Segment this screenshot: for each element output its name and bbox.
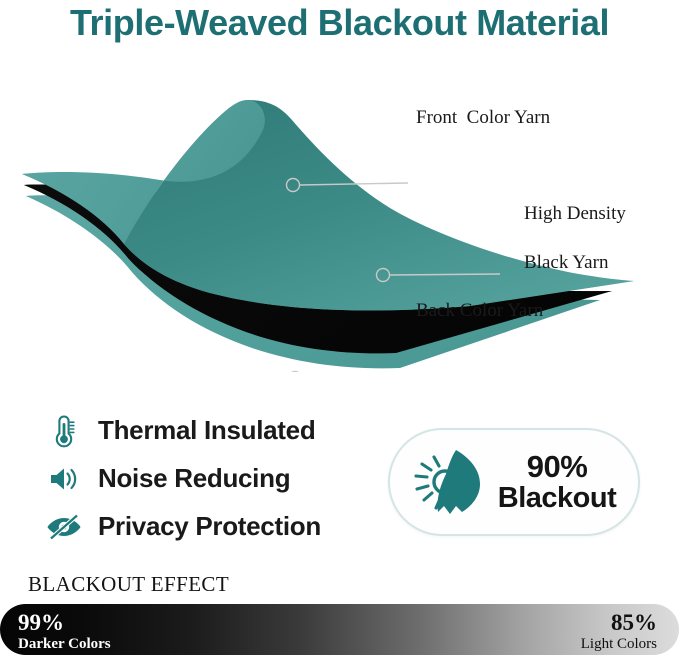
feature-list: Thermal Insulated Noise Reducing Privacy… — [44, 408, 374, 552]
label-back-color-yarn: Back Color Yarn — [416, 299, 543, 323]
blackout-percentage-badge: 90% Blackout — [388, 428, 640, 536]
feature-label: Noise Reducing — [98, 463, 290, 494]
feature-label: Thermal Insulated — [98, 415, 315, 446]
feature-label: Privacy Protection — [98, 511, 321, 542]
label-front-color-yarn: Front Color Yarn — [416, 106, 550, 130]
fabric-layers-diagram: Front Color Yarn High Density Black Yarn… — [0, 72, 679, 372]
bar-right-label: Light Colors — [581, 637, 657, 652]
bar-right-stat: 85% Light Colors — [581, 611, 657, 652]
feature-privacy-protection: Privacy Protection — [44, 504, 374, 549]
sun-blocked-by-curtain-icon — [412, 442, 488, 522]
eye-slash-icon — [44, 509, 84, 545]
feature-noise-reducing: Noise Reducing — [44, 456, 374, 501]
bar-left-label: Darker Colors — [18, 637, 111, 652]
badge-percent: 90% — [498, 450, 616, 483]
label-high-density-black-yarn: High Density Black Yarn — [505, 178, 626, 300]
bar-left-stat: 99% Darker Colors — [18, 611, 111, 652]
page-title: Triple-Weaved Blackout Material — [0, 2, 679, 44]
callout-back — [289, 372, 409, 373]
badge-word: Blackout — [498, 483, 616, 514]
label-line-1: High Density — [524, 203, 626, 224]
circle-marker — [289, 372, 302, 373]
bar-left-percent: 99% — [18, 611, 111, 634]
feature-thermal-insulated: Thermal Insulated — [44, 408, 374, 453]
label-line-2: Black Yarn — [524, 252, 608, 273]
badge-text: 90% Blackout — [498, 450, 616, 515]
blackout-effect-heading: BLACKOUT EFFECT — [28, 572, 229, 597]
blackout-effect-gradient-bar: 99% Darker Colors 85% Light Colors — [0, 604, 679, 655]
speaker-icon — [44, 461, 84, 497]
bar-right-percent: 85% — [581, 611, 657, 634]
thermometer-icon — [44, 413, 84, 449]
